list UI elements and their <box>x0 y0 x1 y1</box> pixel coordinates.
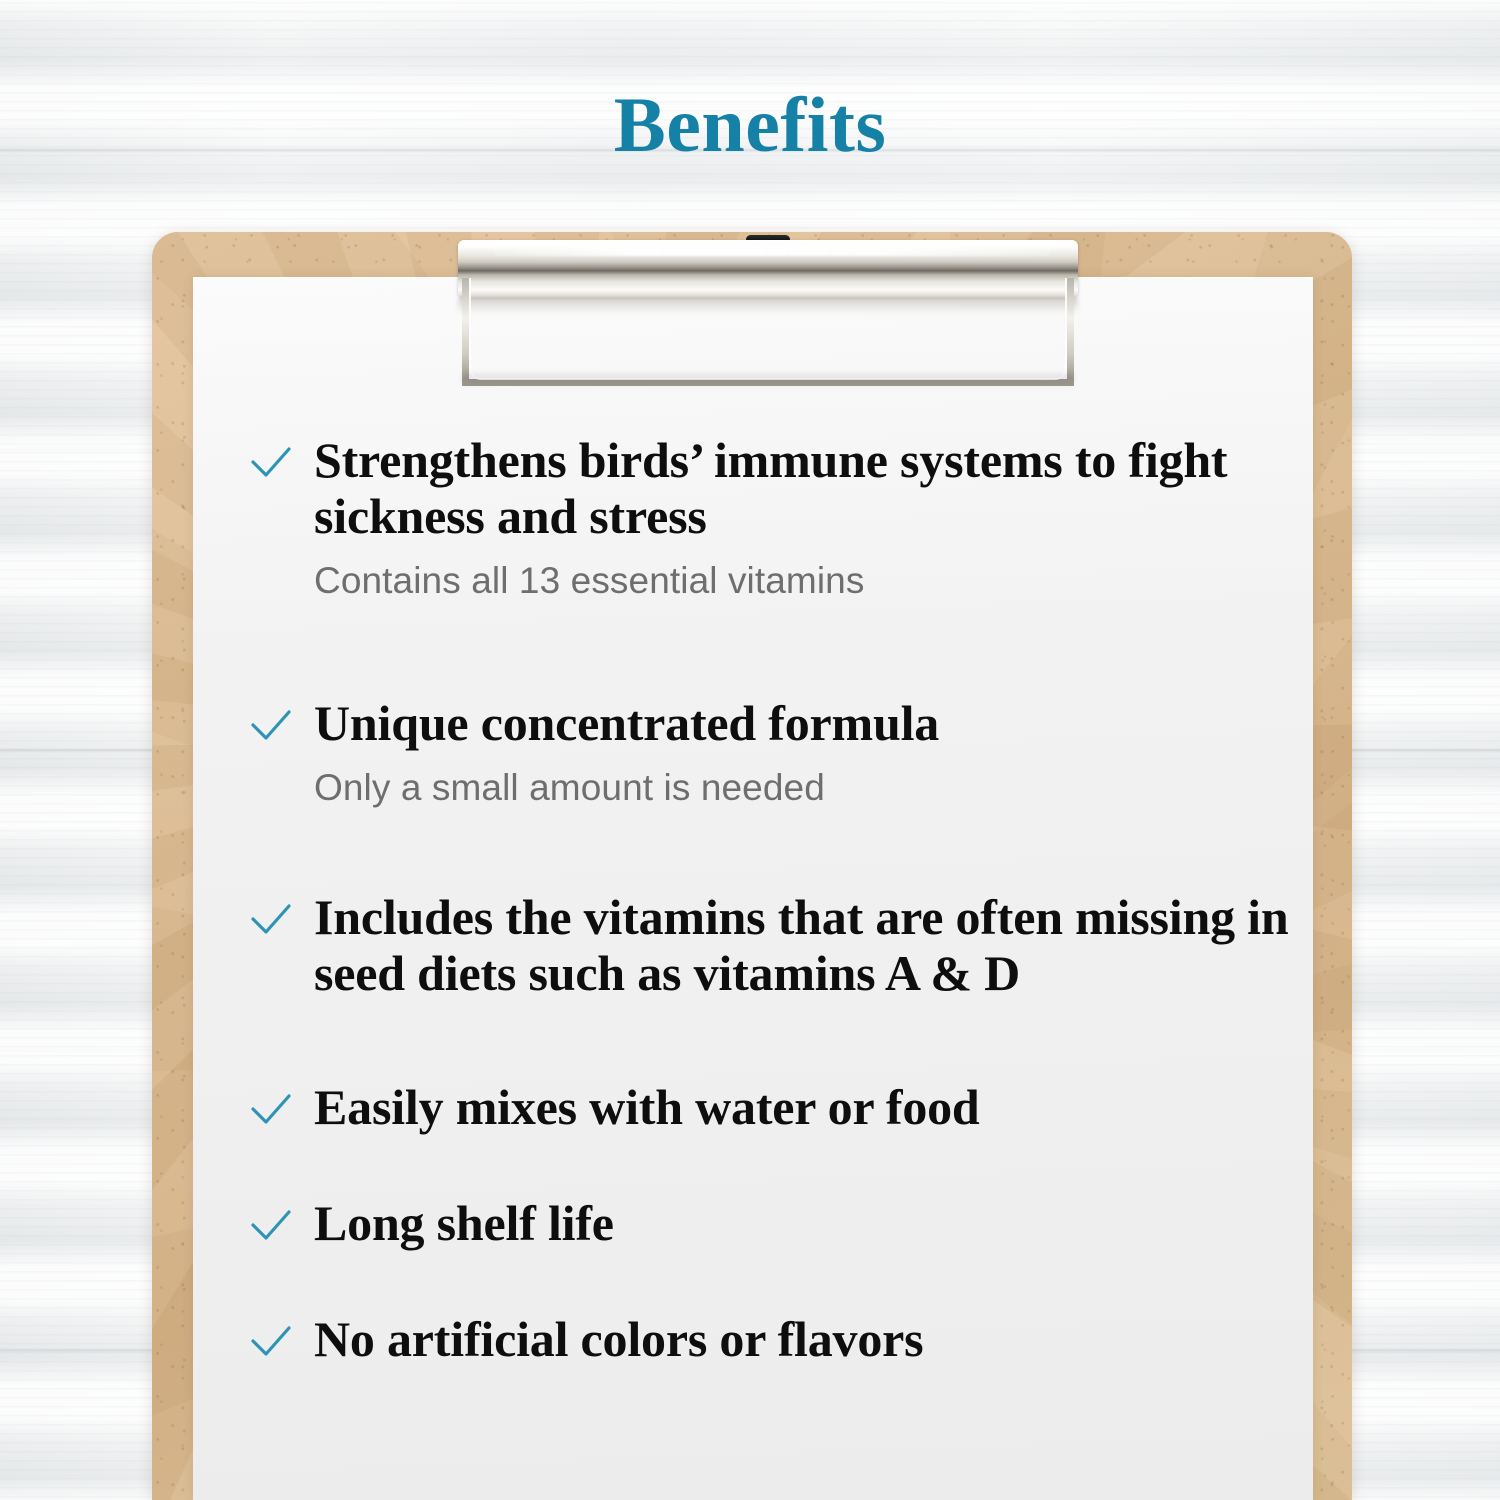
page-title: Benefits <box>0 86 1500 164</box>
check-icon <box>248 1204 294 1250</box>
check-icon <box>248 898 294 944</box>
benefit-item: Strengthens birds’ immune systems to fig… <box>248 432 1308 603</box>
benefit-title: Long shelf life <box>314 1195 1308 1251</box>
check-icon <box>248 704 294 750</box>
benefit-body: Unique concentrated formulaOnly a small … <box>314 695 1308 810</box>
benefit-title: Unique concentrated formula <box>314 695 1308 751</box>
check-icon <box>248 1320 294 1366</box>
benefit-title: Includes the vitamins that are often mis… <box>314 889 1308 1001</box>
benefit-body: Easily mixes with water or food <box>314 1079 1308 1135</box>
benefit-item: Unique concentrated formulaOnly a small … <box>248 695 1308 810</box>
benefit-body: Includes the vitamins that are often mis… <box>314 889 1308 1001</box>
benefits-list: Strengthens birds’ immune systems to fig… <box>248 432 1308 1367</box>
product-benefits-image: Benefits Strengthens birds’ immune syste… <box>0 0 1500 1500</box>
benefit-subtitle: Contains all 13 essential vitamins <box>314 559 1308 603</box>
benefit-item: Long shelf life <box>248 1195 1308 1251</box>
check-icon <box>248 1088 294 1134</box>
benefit-body: No artificial colors or flavors <box>314 1311 1308 1367</box>
benefit-title: No artificial colors or flavors <box>314 1311 1308 1367</box>
benefit-body: Long shelf life <box>314 1195 1308 1251</box>
benefit-body: Strengthens birds’ immune systems to fig… <box>314 432 1308 603</box>
benefit-item: Includes the vitamins that are often mis… <box>248 889 1308 1001</box>
check-icon <box>248 441 294 487</box>
benefit-title: Easily mixes with water or food <box>314 1079 1308 1135</box>
benefit-item: Easily mixes with water or food <box>248 1079 1308 1135</box>
benefit-subtitle: Only a small amount is needed <box>314 766 1308 810</box>
benefit-title: Strengthens birds’ immune systems to fig… <box>314 432 1308 544</box>
benefit-item: No artificial colors or flavors <box>248 1311 1308 1367</box>
